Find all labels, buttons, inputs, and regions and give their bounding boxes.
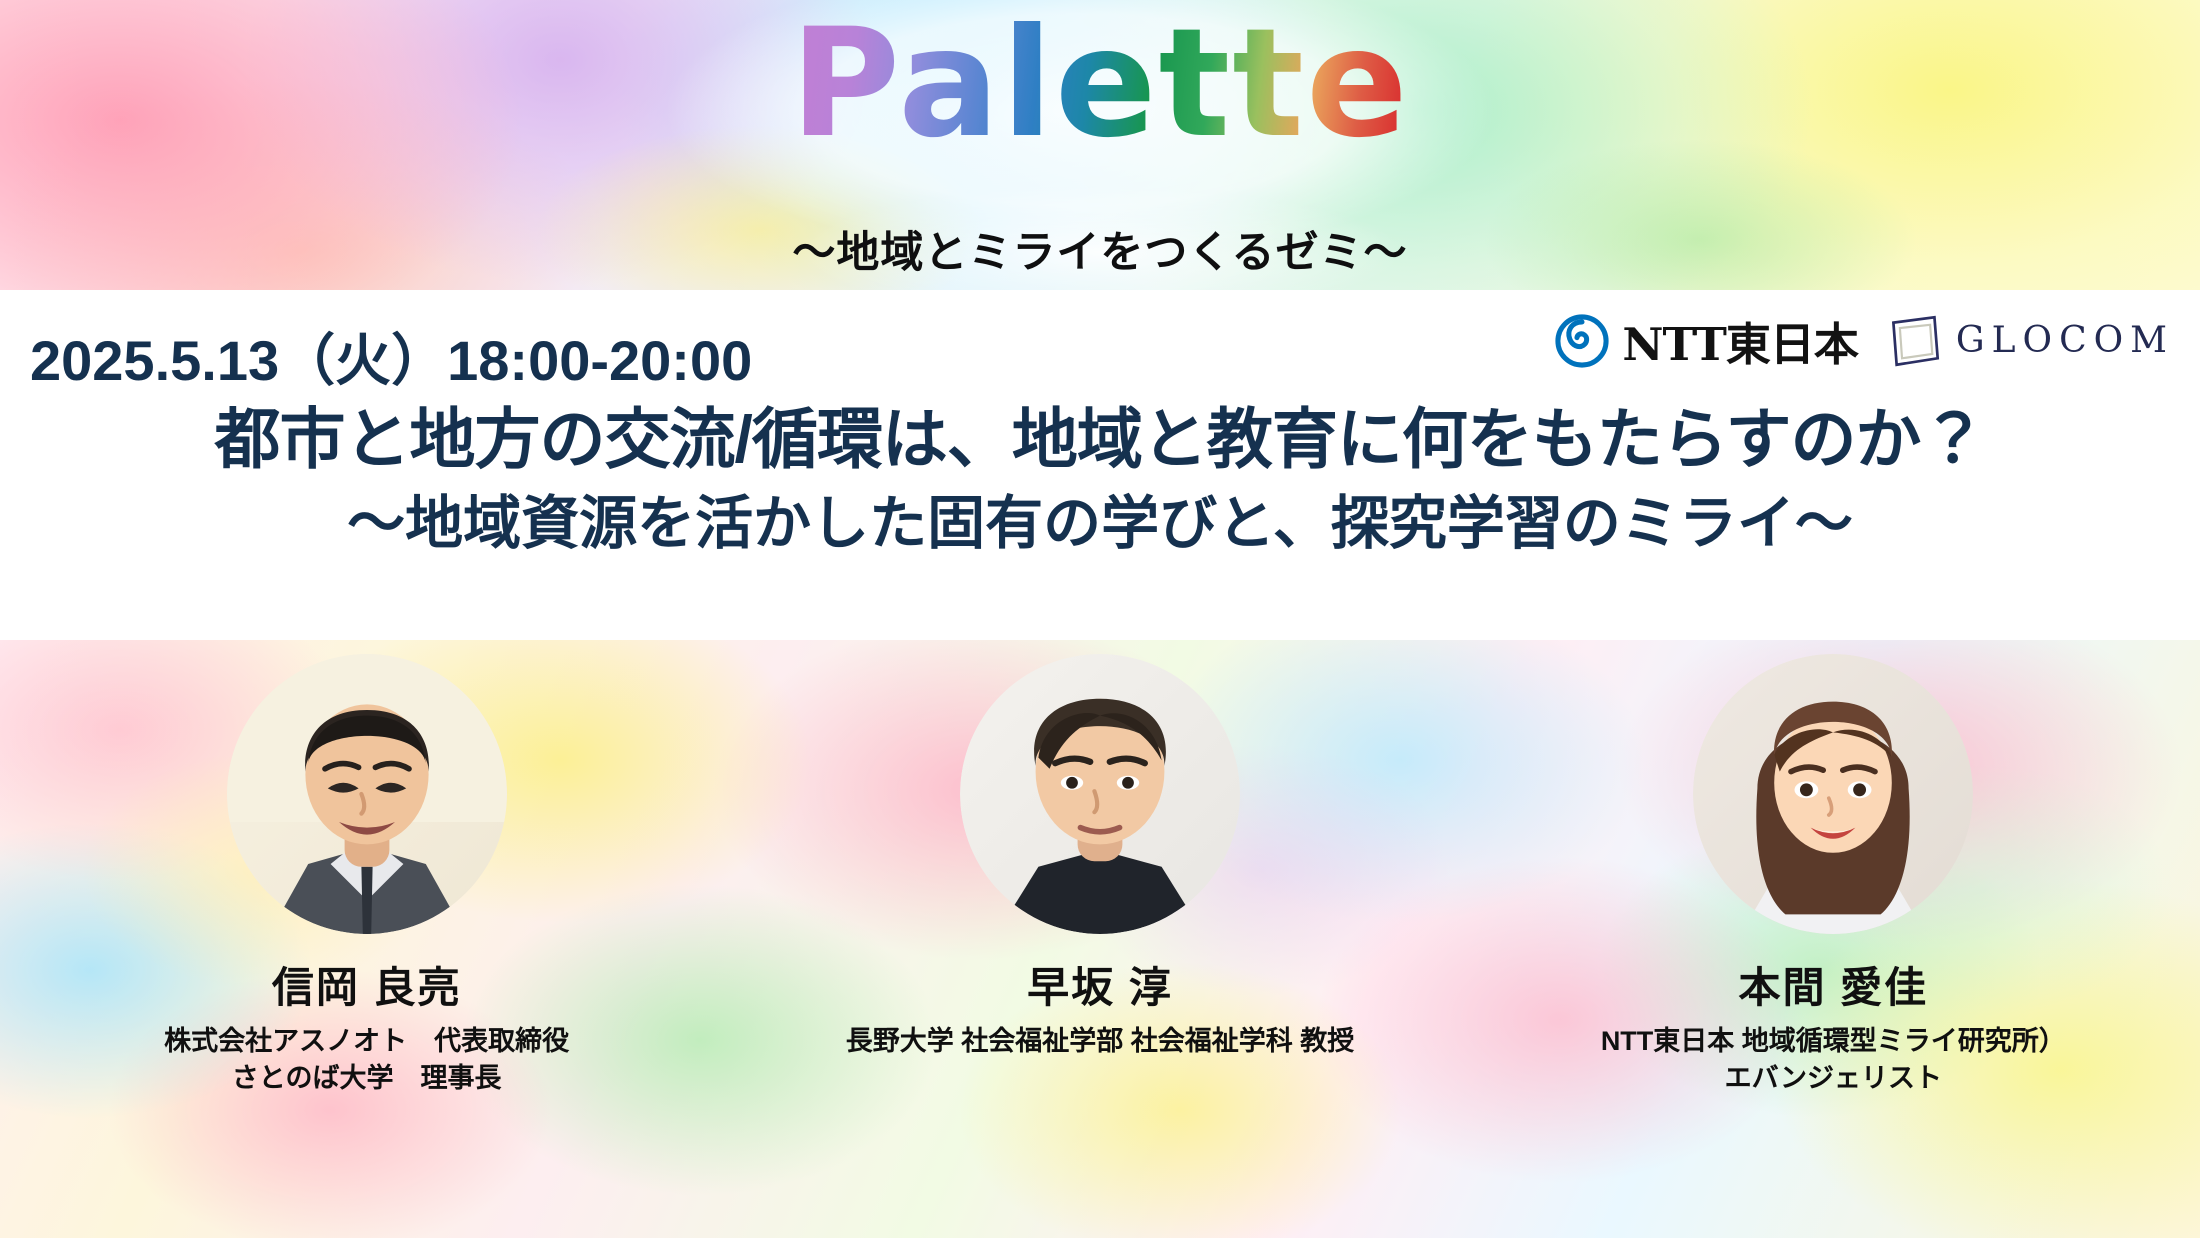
portrait-illustration-3 xyxy=(1693,654,1973,934)
glocom-logo: GLOCOM xyxy=(1888,314,2174,368)
speaker-card-1: 信岡 良亮 株式会社アスノオト 代表取締役 さとのば大学 理事長 xyxy=(0,640,733,1238)
ntt-spiral-icon xyxy=(1554,313,1610,369)
speaker-card-3: 本間 愛佳 NTT東日本 地域循環型ミライ研究所） エバンジェリスト xyxy=(1467,640,2200,1238)
portrait-illustration-2 xyxy=(960,654,1240,934)
palette-logo: Palette xyxy=(790,8,1409,161)
ntt-east-logo: NTT東日本 xyxy=(1554,308,1858,373)
glocom-label: GLOCOM xyxy=(1956,320,2174,361)
brand-logo-wrap: Palette xyxy=(0,8,2200,161)
speaker-affiliation-1: 株式会社アスノオト 代表取締役 さとのば大学 理事長 xyxy=(164,1023,569,1098)
speaker-name-3: 本間 愛佳 xyxy=(1738,954,1928,1015)
event-datetime: 2025.5.13（火）18:00-20:00 xyxy=(30,316,752,397)
ntt-east-label: NTT東日本 xyxy=(1622,308,1858,373)
affiliation-line: エバンジェリスト xyxy=(1601,1060,2066,1097)
event-info-band: 2025.5.13（火）18:00-20:00 NTT東日本 GLOCOM 都市… xyxy=(0,290,2200,640)
speaker-card-2: 早坂 淳 長野大学 社会福祉学部 社会福祉学科 教授 xyxy=(733,640,1466,1238)
speaker-name-2: 早坂 淳 xyxy=(1027,954,1173,1015)
speaker-name-1: 信岡 良亮 xyxy=(272,954,462,1015)
event-title-sub: 〜地域資源を活かした固有の学びと、探究学習のミライ〜 xyxy=(0,476,2200,560)
banner-header: Palette 〜地域とミライをつくるゼミ〜 xyxy=(0,0,2200,292)
speaker-portrait-2 xyxy=(960,654,1240,934)
speakers-section: 信岡 良亮 株式会社アスノオト 代表取締役 さとのば大学 理事長 xyxy=(0,640,2200,1238)
speaker-affiliation-3: NTT東日本 地域循環型ミライ研究所） エバンジェリスト xyxy=(1601,1023,2066,1098)
speaker-affiliation-2: 長野大学 社会福祉学部 社会福祉学科 教授 xyxy=(846,1023,1355,1060)
portrait-illustration-1 xyxy=(227,654,507,934)
event-banner: Palette 〜地域とミライをつくるゼミ〜 2025.5.13（火）18:00… xyxy=(0,0,2200,1238)
glocom-square-icon xyxy=(1888,314,1942,368)
affiliation-line: NTT東日本 地域循環型ミライ研究所） xyxy=(1601,1023,2066,1060)
affiliation-line: 株式会社アスノオト 代表取締役 xyxy=(164,1023,569,1060)
event-title-main: 都市と地方の交流/循環は、地域と教育に何をもたらすのか？ xyxy=(0,386,2200,482)
speaker-portrait-3 xyxy=(1693,654,1973,934)
speaker-portrait-1 xyxy=(227,654,507,934)
affiliation-line: さとのば大学 理事長 xyxy=(164,1060,569,1097)
speakers-row: 信岡 良亮 株式会社アスノオト 代表取締役 さとのば大学 理事長 xyxy=(0,640,2200,1238)
affiliation-line: 長野大学 社会福祉学部 社会福祉学科 教授 xyxy=(846,1023,1355,1060)
partner-logos: NTT東日本 GLOCOM xyxy=(1554,308,2174,373)
brand-tagline: 〜地域とミライをつくるゼミ〜 xyxy=(0,218,2200,280)
